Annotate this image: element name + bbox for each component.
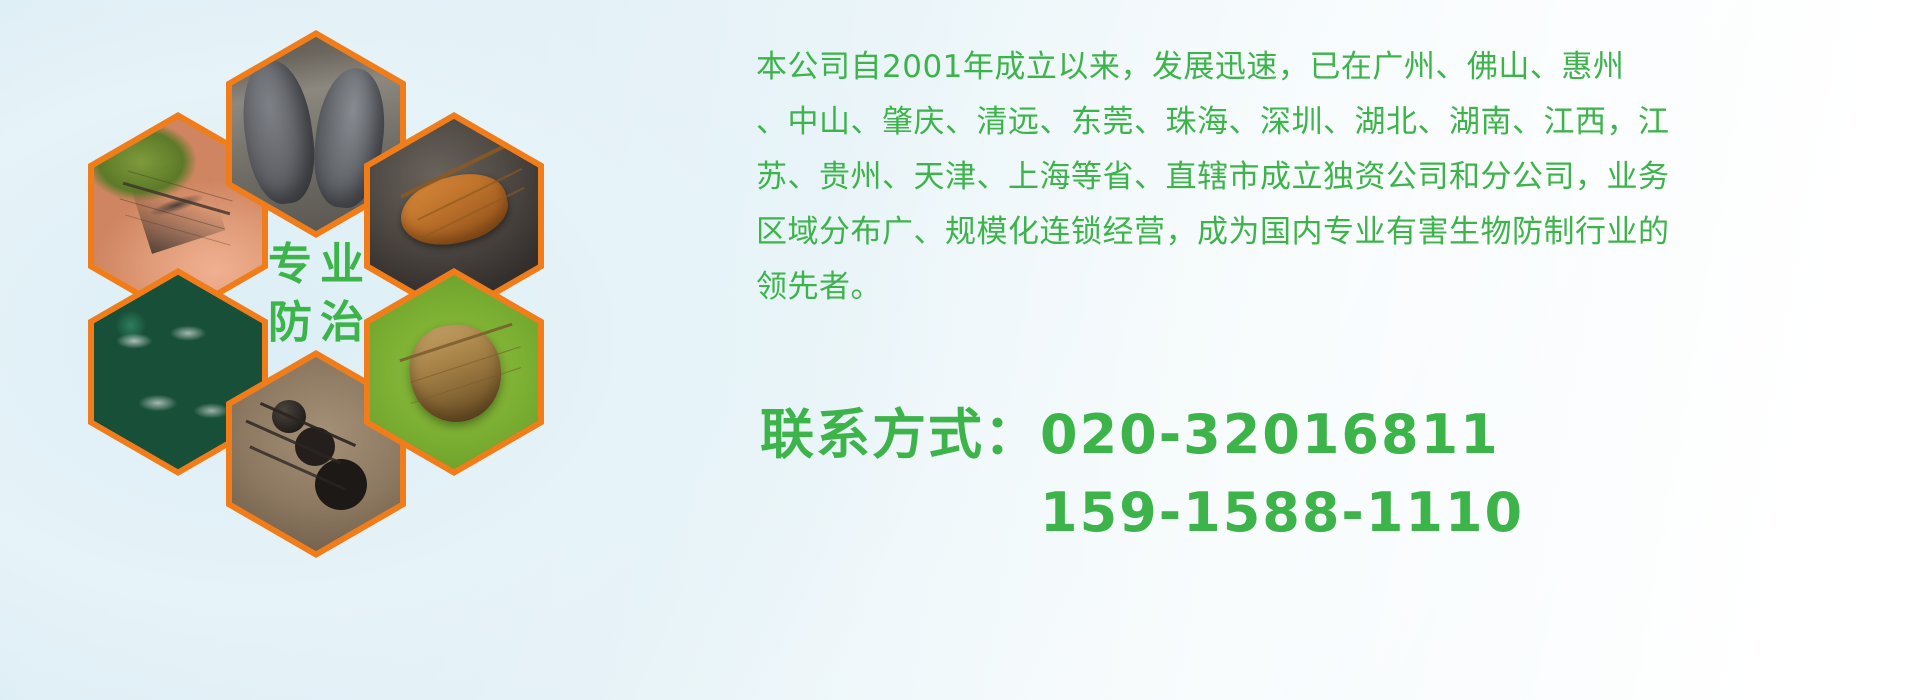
intro-line-3: 苏、贵州、天津、上海等省、直辖市成立独资公司和分公司，业务 [756,150,1861,205]
contact-phone-secondary[interactable]: 159-1588-1110 [760,474,1524,552]
intro-line-5: 领先者。 [756,260,1861,315]
intro-line-2: 、中山、肇庆、清远、东莞、珠海、深圳、湖北、湖南、江西，江 [756,95,1861,150]
intro-copy: 本公司自2001年成立以来，发展迅速，已在广州、佛山、惠州 、中山、肇庆、清远、… [756,40,1861,315]
promo-banner: 专业 防治 本公司自2001年成立以来，发展迅速，已在广州、佛山、惠州 、中山、… [0,0,1920,700]
hex-photo-cluster: 专业 防治 [88,8,588,568]
hex-title-line-2: 防治 [260,297,372,349]
intro-line-1: 本公司自2001年成立以来，发展迅速，已在广州、佛山、惠州 [756,40,1861,95]
hex-center-title: 专业 防治 [226,190,406,398]
contact-block: 联系方式：020-32016811 159-1588-1110 [760,396,1524,552]
intro-line-4: 区域分布广、规模化连锁经营，成为国内专业有害生物防制行业的 [756,205,1861,260]
contact-phone-primary[interactable]: 联系方式：020-32016811 [760,396,1524,474]
intro-paragraph: 本公司自2001年成立以来，发展迅速，已在广州、佛山、惠州 、中山、肇庆、清远、… [756,40,1861,315]
hex-title-line-1: 专业 [260,239,372,291]
